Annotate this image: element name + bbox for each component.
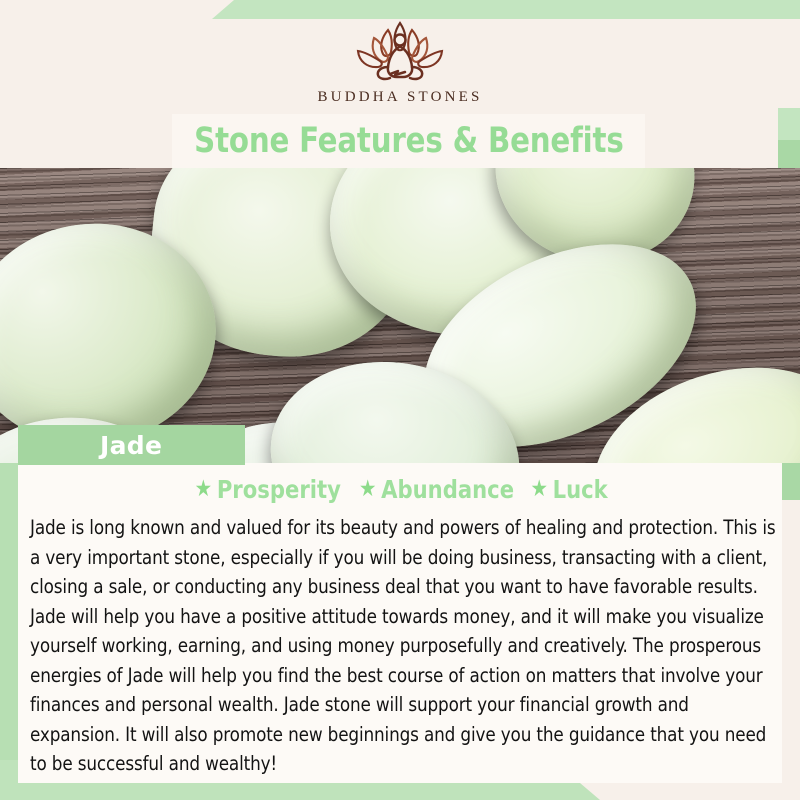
stone-name-banner: Jade	[18, 425, 245, 465]
brand-name: BUDDHA STONES	[317, 89, 482, 106]
keyword-label: Abundance	[381, 475, 514, 504]
keyword-abundance: ★ Abundance	[359, 475, 514, 504]
stone-name: Jade	[100, 431, 162, 460]
stone-description: Jade is long known and valued for its be…	[30, 513, 783, 779]
keyword-label: Luck	[553, 475, 608, 504]
star-icon: ★	[359, 478, 376, 501]
brand-header: BUDDHA STONES	[0, 0, 800, 120]
keyword-list: ★ Prosperity ★ Abundance ★ Luck	[18, 469, 782, 509]
star-icon: ★	[531, 478, 548, 501]
keyword-label: Prosperity	[216, 475, 340, 504]
star-icon: ★	[194, 478, 211, 501]
page-title: Stone Features & Benefits	[194, 124, 623, 159]
title-banner: Stone Features & Benefits	[172, 114, 645, 168]
keyword-prosperity: ★ Prosperity	[194, 475, 340, 504]
poster-canvas: BUDDHA STONES Stone Features & Benefits …	[0, 0, 800, 800]
content-panel: ★ Prosperity ★ Abundance ★ Luck Jade is …	[18, 463, 782, 783]
lotus-meditation-icon	[346, 15, 454, 85]
keyword-luck: ★ Luck	[531, 475, 608, 504]
jade-stones-photo	[0, 168, 800, 463]
